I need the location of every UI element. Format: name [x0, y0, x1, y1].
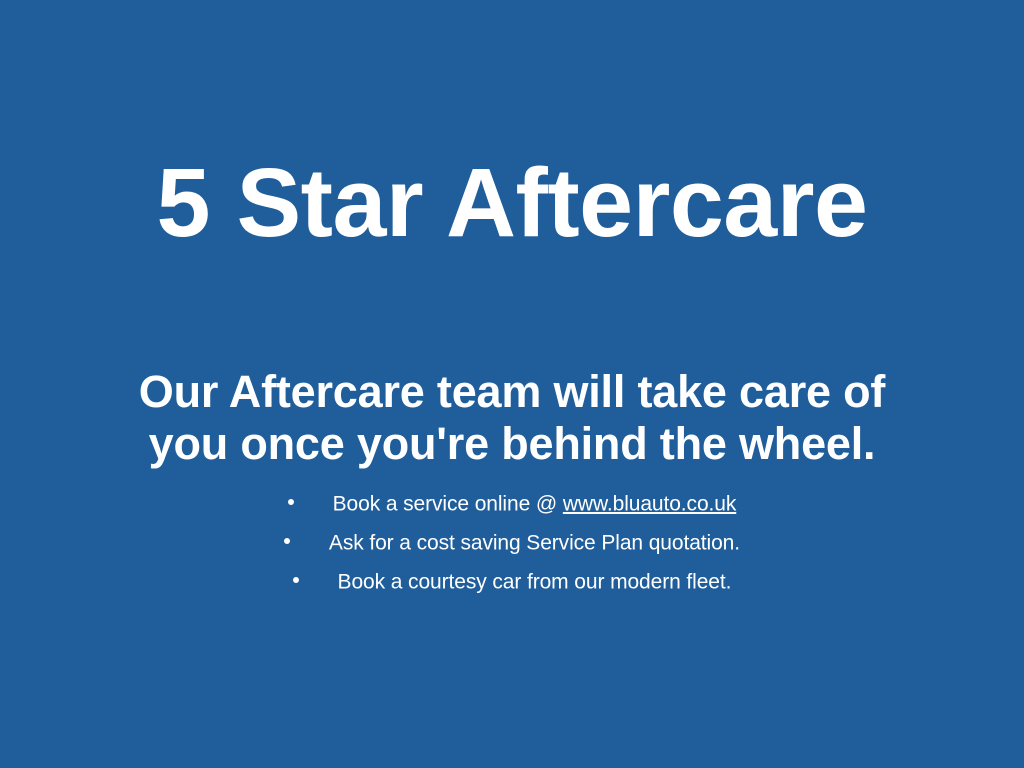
bullet-text-3: Book a courtesy car from our modern flee…	[338, 570, 732, 593]
bullet-dot-icon	[288, 499, 294, 505]
slide-canvas: 5 Star Aftercare Our Aftercare team will…	[0, 0, 1024, 768]
subtitle-line-1: Our Aftercare team will take care of	[0, 366, 1024, 418]
list-item: Book a courtesy car from our modern flee…	[0, 562, 1024, 601]
subtitle-line-2: you once you're behind the wheel.	[0, 418, 1024, 470]
subtitle-block: Our Aftercare team will take care of you…	[0, 366, 1024, 470]
list-item: Ask for a cost saving Service Plan quota…	[0, 523, 1024, 562]
website-link[interactable]: www.bluauto.co.uk	[563, 492, 736, 515]
bullet-text-1: Book a service online @	[333, 492, 563, 515]
page-title: 5 Star Aftercare	[0, 152, 1024, 255]
bullet-dot-icon	[284, 538, 290, 544]
title-block: 5 Star Aftercare	[0, 152, 1024, 255]
bullet-dot-icon	[293, 577, 299, 583]
bullet-text-2: Ask for a cost saving Service Plan quota…	[329, 531, 740, 554]
bullet-list: Book a service online @ www.bluauto.co.u…	[0, 484, 1024, 601]
list-item: Book a service online @ www.bluauto.co.u…	[0, 484, 1024, 523]
